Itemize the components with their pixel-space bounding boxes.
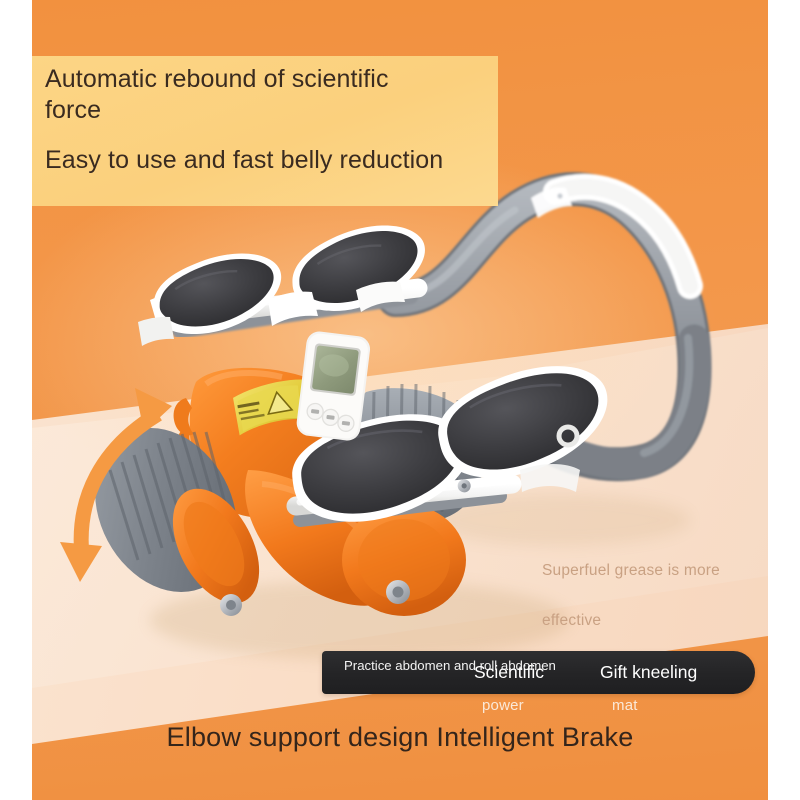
- pill-sub-label-power: power: [482, 697, 524, 714]
- feature-text-line-2: effective: [542, 612, 601, 630]
- pill-label-scientific: Scientific: [474, 662, 544, 683]
- page-edge-left: [0, 0, 32, 800]
- bottom-headline: Elbow support design Intelligent Brake: [0, 722, 800, 753]
- product-poster: Automatic rebound of scientific force Ea…: [0, 0, 800, 800]
- headline-line-2: Easy to use and fast belly reduction: [45, 145, 565, 176]
- page-edge-right: [768, 0, 800, 800]
- motion-arrow: [40, 370, 220, 630]
- pill-sub-label-mat: mat: [612, 697, 638, 714]
- top-headline-block: Automatic rebound of scientific force Ea…: [45, 64, 565, 176]
- headline-line-1: Automatic rebound of scientific force: [45, 64, 445, 125]
- feature-pill-bar: Practice abdomen and roll abdomen Scient…: [322, 651, 755, 694]
- pill-label-gift-kneeling: Gift kneeling: [600, 662, 697, 683]
- feature-text-line-1: Superfuel grease is more: [542, 562, 720, 580]
